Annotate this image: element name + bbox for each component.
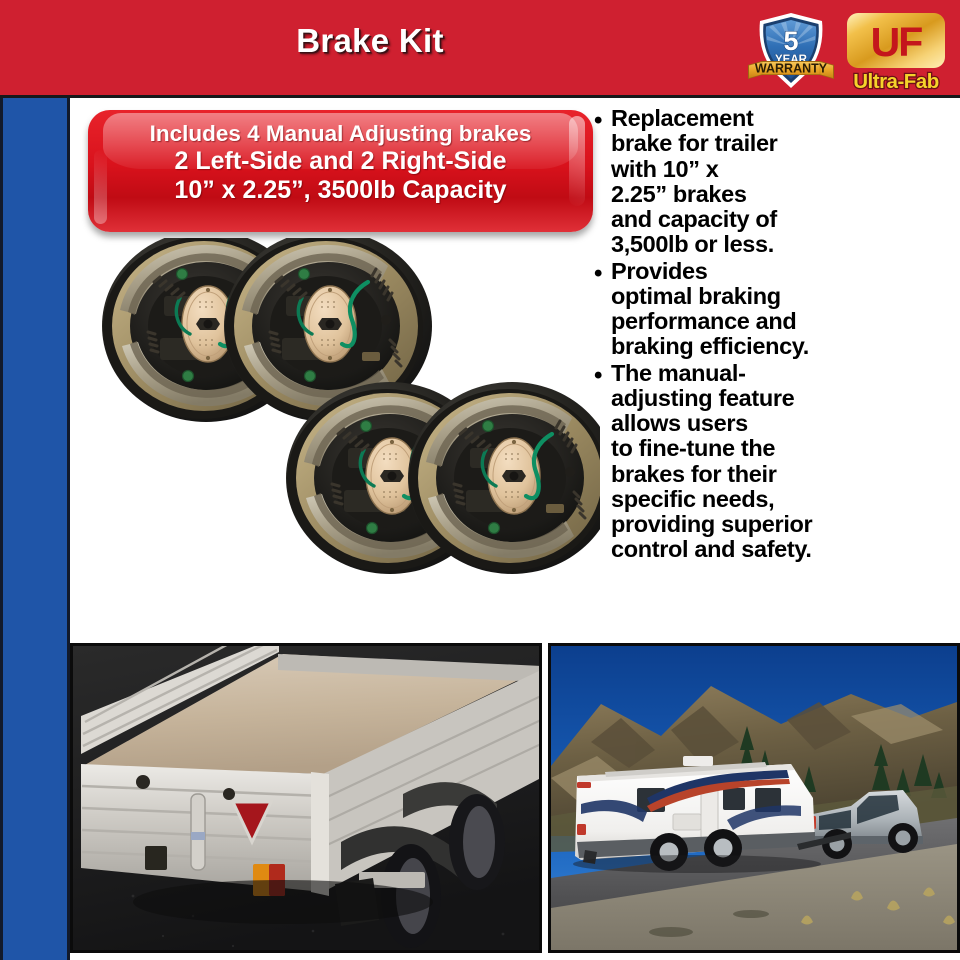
feature-bullet-list: • Replacement brake for trailer with 10”…: [594, 106, 960, 564]
list-item: • Replacement brake for trailer with 10”…: [594, 106, 960, 258]
bullet-text: The manual- adjusting feature allows use…: [611, 361, 960, 563]
bullet-text: Provides optimal braking performance and…: [611, 259, 960, 360]
utility-trailer-photo: [70, 643, 542, 953]
callout-line-3: 10” x 2.25”, 3500lb Capacity: [88, 176, 593, 205]
warranty-years: 5: [783, 26, 798, 56]
header-banner: Brake Kit: [0, 0, 960, 98]
photo-strip: [70, 643, 960, 958]
content-area: Includes 4 Manual Adjusting brakes 2 Lef…: [70, 98, 960, 960]
warranty-badge: 5 YEAR WARRANTY: [745, 10, 837, 94]
left-accent-rail: [0, 98, 70, 960]
bullet-text: Replacement brake for trailer with 10” x…: [611, 106, 960, 258]
page-title: Brake Kit: [0, 22, 740, 60]
callout-text: Includes 4 Manual Adjusting brakes 2 Lef…: [88, 110, 593, 205]
bullet-dot-icon: •: [594, 106, 611, 133]
list-item: • Provides optimal braking performance a…: [594, 259, 960, 360]
product-infographic: Brake Kit: [0, 0, 960, 960]
logo-monogram: UF: [871, 19, 923, 65]
callout-line-1: Includes 4 Manual Adjusting brakes: [88, 121, 593, 147]
list-item: • The manual- adjusting feature allows u…: [594, 361, 960, 563]
spec-callout: Includes 4 Manual Adjusting brakes 2 Lef…: [88, 110, 593, 232]
warranty-banner-label: WARRANTY: [755, 62, 828, 76]
rv-towing-photo: [548, 643, 960, 953]
logo-wordmark: Ultra-Fab: [853, 70, 938, 93]
callout-line-2: 2 Left-Side and 2 Right-Side: [88, 147, 593, 176]
brake-assemblies-image: [70, 238, 600, 628]
brand-logo: UF Ultra-Fab: [843, 12, 949, 94]
